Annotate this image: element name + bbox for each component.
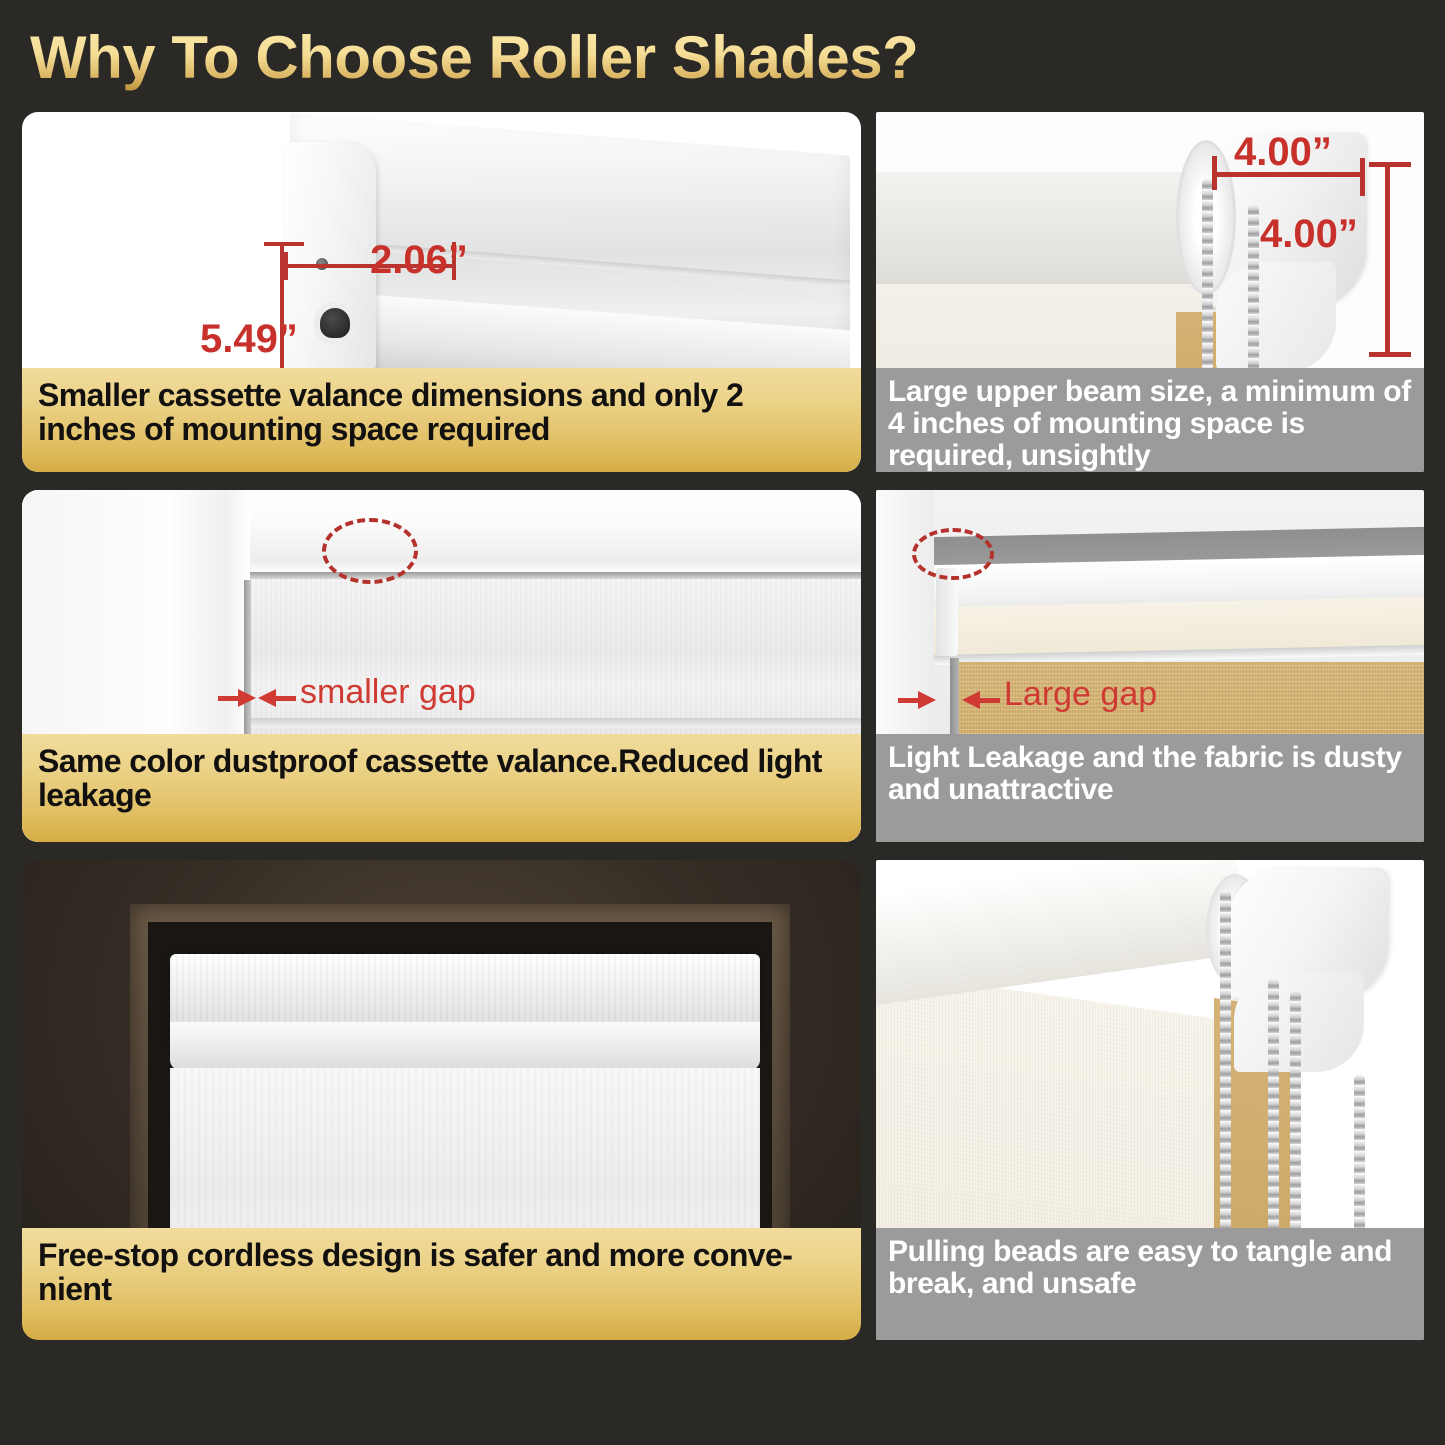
gap-arrow-right-icon [238,689,256,707]
large-gap-label: Large gap [1004,675,1157,714]
roller-tube [876,860,1250,1005]
gap-arrow-right-icon [918,691,936,709]
cap-slot-icon [320,308,350,338]
width-dimension-tick-right [1360,158,1365,196]
panel-4-caption: Light Leakage and the fabric is dusty an… [876,734,1424,842]
gap-arrow-tail-right [274,696,296,701]
panel-1-caption: Smaller cassette valance dimensions and … [22,368,861,472]
panel-3-caption: Same color dustproof cassette valance.Re… [22,734,861,842]
cassette-headrail-lower [170,1022,760,1070]
height-dimension-tick-bottom [1369,352,1411,357]
infographic-root: Why To Choose Roller Shades? 2.06” 5.49”… [0,0,1445,1445]
height-dimension-tick-top [264,242,304,246]
panel-2-caption: Large upper beam size, a minimum of 4 in… [876,368,1424,472]
window-frame-header [172,490,861,576]
panel-cordless-design: Free-stop cordless design is safer and m… [22,860,861,1340]
panel-smaller-cassette: 2.06” 5.49” Smaller cassette valance dim… [22,112,861,472]
height-dimension-label: 4.00” [1260,212,1358,257]
valance-mid-rail [250,718,861,728]
smaller-gap-label: smaller gap [300,673,476,712]
height-dimension-line [1385,164,1390,356]
panel-dustproof-cassette: smaller gap Same color dustproof cassett… [22,490,861,842]
panel-pulling-beads: Pulling beads are easy to tangle and bre… [876,860,1424,1340]
width-dimension-label: 2.06” [370,238,468,283]
beam-bracket-lower [1216,262,1336,372]
width-dimension-label: 4.00” [1234,130,1332,175]
width-dimension-tick-left [284,252,288,280]
height-dimension-tick-top [1369,162,1411,167]
page-title: Why To Choose Roller Shades? [30,22,1410,94]
highlight-circle-icon [322,518,418,584]
gap-arrow-tail-right [978,698,1000,703]
width-dimension-tick-left [1212,156,1217,190]
panel-5-caption: Free-stop cordless design is safer and m… [22,1228,861,1340]
height-dimension-label: 5.49” [200,317,298,362]
highlight-circle-icon [912,528,994,580]
panel-6-caption: Pulling beads are easy to tangle and bre… [876,1228,1424,1340]
mounting-bracket [936,568,958,656]
panel-light-leakage: Large gap Light Leakage and the fabric i… [876,490,1424,842]
gap-arrow-tail-left [218,696,240,701]
panel-large-upper-beam: 4.00” 4.00” Large upper beam size, a min… [876,112,1424,472]
gap-arrow-tail-left [898,698,920,703]
